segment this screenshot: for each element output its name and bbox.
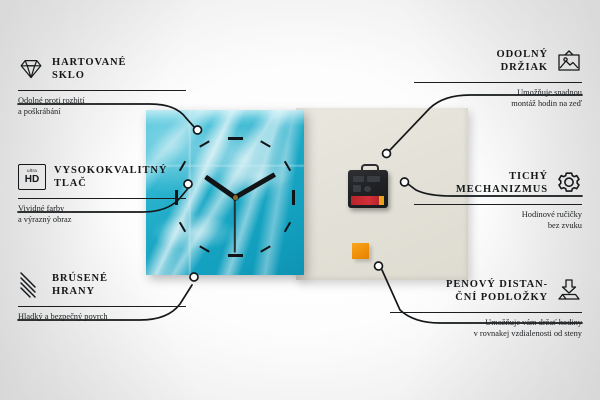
quartz-clock-mechanism [348, 170, 388, 208]
mechanism-detail [364, 186, 371, 192]
mechanism-hanger [361, 164, 379, 174]
mechanism-detail [353, 176, 364, 182]
feature-divider [18, 306, 186, 307]
feature-header: BRÚSENÉ HRANY [18, 268, 186, 302]
wall-hanger-icon [556, 48, 582, 74]
feature-title: BRÚSENÉ HRANY [52, 272, 108, 298]
feature-high-quality-print: ultra HD VYSOKOKVALITNÝ TLAČ Vividné far… [18, 160, 186, 226]
ultra-hd-icon: ultra HD [18, 164, 46, 190]
feature-description: Vividné farby a výrazný obraz [18, 203, 186, 226]
clock-tick [292, 190, 295, 205]
feature-header: PENOVÝ DISTAN- ČNÍ PODLOŽKY [390, 274, 582, 308]
feature-silent-mechanism: TICHÝ MECHANIZMUS Hodinové ručičky bez z… [414, 166, 582, 232]
feature-divider [414, 204, 582, 205]
feature-description: Hladký a bezpečný povrch [18, 311, 186, 322]
clock-second-hand [234, 197, 236, 253]
ground-edges-icon [18, 272, 44, 298]
gear-icon [556, 170, 582, 196]
feature-title: HARTOVANÉ SKLO [52, 56, 126, 82]
feature-divider [414, 82, 582, 83]
product-infographic: HARTOVANÉ SKLO Odolné proti rozbití a po… [0, 0, 600, 400]
feature-title: VYSOKOKVALITNÝ TLAČ [54, 164, 167, 190]
hd-label: HD [25, 175, 39, 185]
foam-pad-icon [556, 278, 582, 304]
feature-description: Umožňuje snadnou montáž hodin na zeď [414, 87, 582, 110]
feature-title: PENOVÝ DISTAN- ČNÍ PODLOŽKY [446, 278, 548, 304]
feature-description: Hodinové ručičky bez zvuku [414, 209, 582, 232]
mechanism-detail [367, 176, 380, 182]
feature-durable-hanger: ODOLNÝ DRŽIAK Umožňuje snadnou montáž ho… [414, 44, 582, 110]
foam-distance-pad [352, 243, 369, 259]
feature-header: TICHÝ MECHANIZMUS [414, 166, 582, 200]
feature-ground-edges: BRÚSENÉ HRANY Hladký a bezpečný povrch [18, 268, 186, 322]
battery-tip [379, 196, 384, 205]
clock-tick [228, 254, 243, 257]
feature-description: Odolné proti rozbití a poškrábání [18, 95, 186, 118]
feature-divider [18, 90, 186, 91]
feature-description: Umožňuje vám držať hodiny v rovnakej vzd… [390, 317, 582, 340]
feature-foam-spacers: PENOVÝ DISTAN- ČNÍ PODLOŽKY Umožňuje vám… [390, 274, 582, 340]
mechanism-battery [351, 196, 384, 205]
clock-tick [228, 137, 243, 140]
feature-divider [18, 198, 186, 199]
mechanism-detail [353, 185, 361, 192]
feature-header: HARTOVANÉ SKLO [18, 52, 186, 86]
feature-header: ODOLNÝ DRŽIAK [414, 44, 582, 78]
feature-title: ODOLNÝ DRŽIAK [497, 48, 549, 74]
clock-center-hub [233, 195, 238, 200]
feature-tempered-glass: HARTOVANÉ SKLO Odolné proti rozbití a po… [18, 52, 186, 118]
diamond-icon [18, 56, 44, 82]
feature-divider [390, 312, 582, 313]
feature-header: ultra HD VYSOKOKVALITNÝ TLAČ [18, 160, 186, 194]
feature-title: TICHÝ MECHANIZMUS [456, 170, 548, 196]
